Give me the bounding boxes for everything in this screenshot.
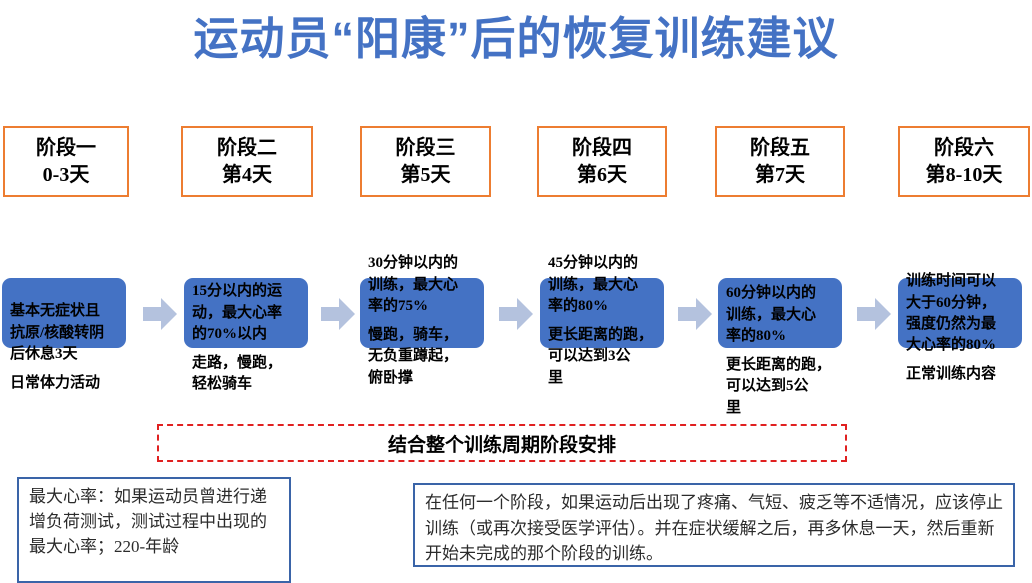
content-intensity: 30分钟以内的 训练，最大心 率的75% bbox=[368, 255, 458, 314]
arrow-icon-5 bbox=[857, 296, 891, 332]
content-activity: 日常体力活动 bbox=[10, 373, 140, 394]
stage-name: 阶段六 bbox=[934, 135, 994, 162]
arrow-icon-3 bbox=[499, 296, 533, 332]
content-text-4: 45分钟以内的 训练，最大心 率的80% 更长距离的跑， 可以达到3公 里 bbox=[548, 232, 682, 410]
stage-box-3: 阶段三 第5天 bbox=[360, 126, 491, 197]
page-title: 运动员“阳康”后的恢复训练建议 bbox=[0, 14, 1032, 64]
stage-days: 第8-10天 bbox=[926, 162, 1003, 189]
content-intensity: 15分以内的运 动，最大心率 的70%以内 bbox=[192, 283, 282, 342]
content-text-1: 基本无症状且 抗原/核酸转阴 后休息3天 日常体力活动 bbox=[10, 280, 140, 416]
content-text-6: 训练时间可以 大于60分钟， 强度仍然为最 大心率的80% 正常训练内容 bbox=[906, 250, 1032, 407]
content-activity: 慢跑，骑车， 无负重蹲起， 俯卧撑 bbox=[368, 325, 498, 389]
stage-name: 阶段五 bbox=[750, 135, 810, 162]
content-activity: 更长距离的跑， 可以达到5公 里 bbox=[726, 355, 860, 419]
stage-box-1: 阶段一 0-3天 bbox=[3, 126, 129, 197]
note-max-heart-rate: 最大心率：如果运动员曾进行递增负荷测试，测试过程中出现的最大心率；220-年龄 bbox=[17, 477, 291, 583]
banner-label: 结合整个训练周期阶段安排 bbox=[388, 430, 616, 457]
stage-name: 阶段四 bbox=[572, 135, 632, 162]
content-text-5: 60分钟以内的 训练，最大心 率的80% 更长距离的跑， 可以达到5公 里 bbox=[726, 262, 860, 440]
stage-days: 第4天 bbox=[222, 162, 272, 189]
content-activity: 走路，慢跑， 轻松骑车 bbox=[192, 353, 322, 396]
content-text-3: 30分钟以内的 训练，最大心 率的75% 慢跑，骑车， 无负重蹲起， 俯卧撑 bbox=[368, 232, 498, 410]
content-text-2: 15分以内的运 动，最大心率 的70%以内 走路，慢跑， 轻松骑车 bbox=[192, 260, 322, 417]
content-intensity: 基本无症状且 抗原/核酸转阴 后休息3天 bbox=[10, 303, 104, 362]
content-intensity: 45分钟以内的 训练，最大心 率的80% bbox=[548, 255, 638, 314]
arrow-icon-1 bbox=[143, 296, 177, 332]
stage-box-6: 阶段六 第8-10天 bbox=[898, 126, 1030, 197]
stage-days: 第6天 bbox=[577, 162, 627, 189]
stage-days: 第5天 bbox=[401, 162, 451, 189]
stage-box-5: 阶段五 第7天 bbox=[715, 126, 845, 197]
stage-name: 阶段二 bbox=[217, 135, 277, 162]
stage-days: 第7天 bbox=[755, 162, 805, 189]
stage-name: 阶段三 bbox=[396, 135, 456, 162]
content-intensity: 60分钟以内的 训练，最大心 率的80% bbox=[726, 285, 816, 344]
note-warning: 在任何一个阶段，如果运动后出现了疼痛、气短、疲乏等不适情况，应该停止训练（或再次… bbox=[413, 483, 1015, 567]
stage-days: 0-3天 bbox=[43, 162, 90, 189]
arrow-icon-4 bbox=[678, 296, 712, 332]
stage-box-2: 阶段二 第4天 bbox=[181, 126, 313, 197]
arrow-icon-2 bbox=[321, 296, 355, 332]
content-activity: 更长距离的跑， 可以达到3公 里 bbox=[548, 325, 682, 389]
content-intensity: 训练时间可以 大于60分钟， 强度仍然为最 大心率的80% bbox=[906, 273, 996, 353]
stage-box-4: 阶段四 第6天 bbox=[537, 126, 667, 197]
content-activity: 正常训练内容 bbox=[906, 364, 1032, 385]
stage-name: 阶段一 bbox=[36, 135, 96, 162]
